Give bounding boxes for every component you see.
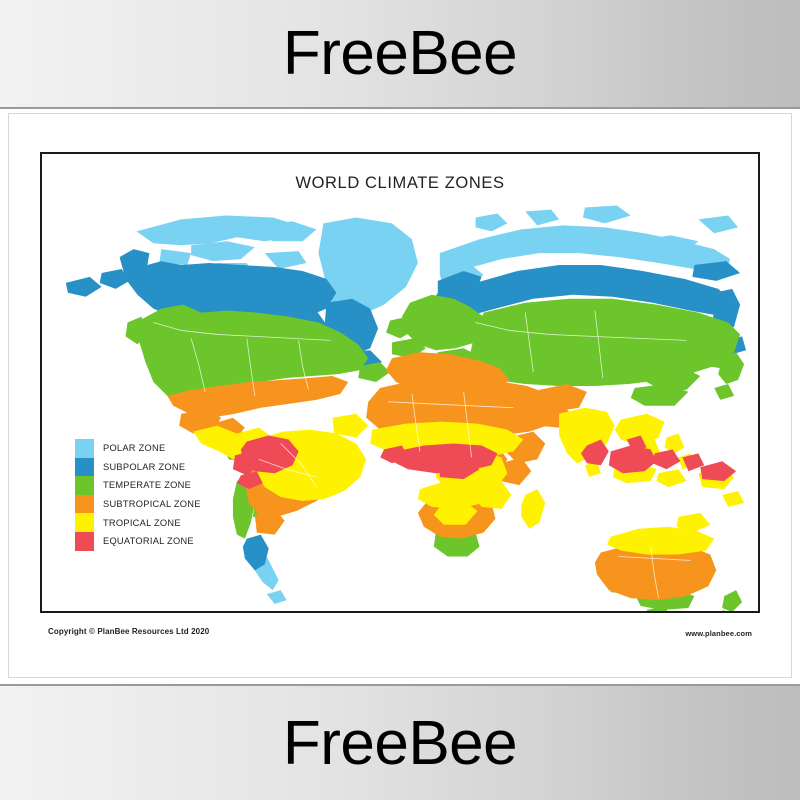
poster-root: FreeBee WORLD CLIMATE ZONES <box>0 0 800 800</box>
bottom-banner: FreeBee <box>0 684 800 800</box>
legend-label-temperate: TEMPERATE ZONE <box>103 480 191 490</box>
legend-label-equatorial: EQUATORIAL ZONE <box>103 536 194 546</box>
legend-label-subtropical: SUBTROPICAL ZONE <box>103 499 201 509</box>
legend-item-subtropical: SUBTROPICAL ZONE <box>75 495 201 514</box>
legend-label-tropical: TROPICAL ZONE <box>103 518 181 528</box>
legend-item-temperate: TEMPERATE ZONE <box>75 476 201 495</box>
legend-label-subpolar: SUBPOLAR ZONE <box>103 462 185 472</box>
map-legend: POLAR ZONE SUBPOLAR ZONE TEMPERATE ZONE … <box>75 439 201 551</box>
legend-swatch-polar <box>75 439 94 458</box>
legend-item-tropical: TROPICAL ZONE <box>75 513 201 532</box>
legend-swatch-temperate <box>75 476 94 495</box>
legend-item-subpolar: SUBPOLAR ZONE <box>75 458 201 477</box>
legend-item-polar: POLAR ZONE <box>75 439 201 458</box>
legend-swatch-subpolar <box>75 458 94 477</box>
legend-swatch-tropical <box>75 513 94 532</box>
legend-swatch-equatorial <box>75 532 94 551</box>
legend-item-equatorial: EQUATORIAL ZONE <box>75 532 201 551</box>
top-banner: FreeBee <box>0 0 800 109</box>
bottom-banner-label: FreeBee <box>283 713 517 775</box>
website-url: www.planbee.com <box>685 629 752 638</box>
legend-label-polar: POLAR ZONE <box>103 443 165 453</box>
top-banner-label: FreeBee <box>283 23 517 85</box>
copyright-notice: Copyright © PlanBee Resources Ltd 2020 <box>48 627 209 636</box>
map-frame: WORLD CLIMATE ZONES <box>40 152 760 613</box>
legend-swatch-subtropical <box>75 495 94 514</box>
